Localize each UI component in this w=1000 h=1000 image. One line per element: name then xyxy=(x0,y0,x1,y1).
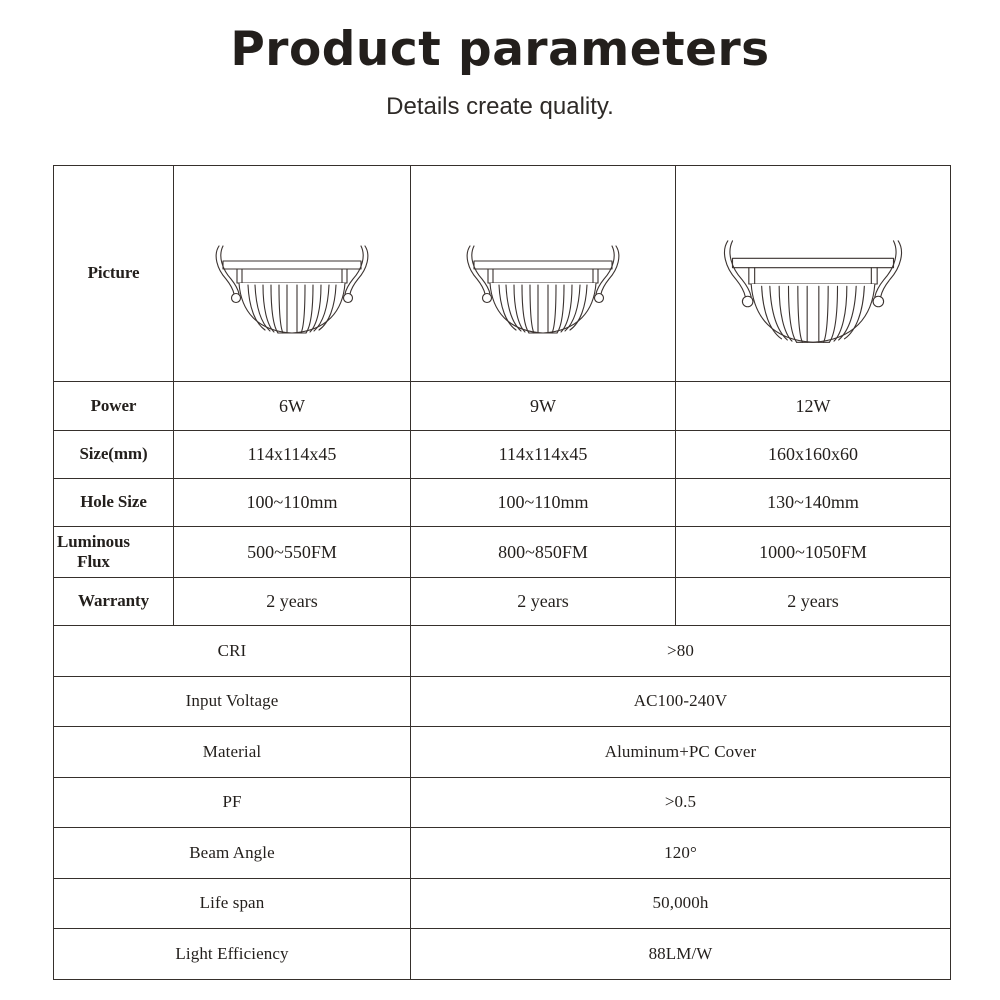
product-image-cell-6w xyxy=(174,166,411,382)
table-row-luminous-flux: Luminous Flux 500~550FM 800~850FM 1000~1… xyxy=(54,527,951,578)
row-label-cri: CRI xyxy=(54,626,411,677)
specification-table-container: Picture xyxy=(53,165,946,980)
cell-value-material: Aluminum+PC Cover xyxy=(411,727,951,778)
cell-value: 100~110mm xyxy=(174,492,410,513)
product-parameters-page: Product parameters Details create qualit… xyxy=(0,0,1000,1000)
cell-value: 500~550FM xyxy=(174,542,410,563)
row-label-luminous-flux: Luminous Flux xyxy=(54,527,174,578)
row-label-beam-angle: Beam Angle xyxy=(54,828,411,879)
row-label-light-efficiency: Light Efficiency xyxy=(54,929,411,980)
row-label-warranty: Warranty xyxy=(54,578,174,626)
cell-warranty-6w: 2 years xyxy=(174,578,411,626)
page-subtitle: Details create quality. xyxy=(0,94,1000,120)
cell-hole-6w: 100~110mm xyxy=(174,479,411,527)
specification-table: Picture xyxy=(53,165,951,980)
cell-value-light-efficiency: 88LM/W xyxy=(411,929,951,980)
table-row-beam-angle: Beam Angle 120° xyxy=(54,828,951,879)
cell-flux-6w: 500~550FM xyxy=(174,527,411,578)
cell-value: 160x160x60 xyxy=(676,444,950,465)
product-image-cell-12w xyxy=(676,166,951,382)
row-label-input-voltage: Input Voltage xyxy=(54,676,411,727)
cell-value-life-span: 50,000h xyxy=(411,878,951,929)
cell-power-9w: 9W xyxy=(411,382,676,431)
cell-value: 800~850FM xyxy=(411,542,675,563)
cell-size-6w: 114x114x45 xyxy=(174,431,411,479)
cell-value: 9W xyxy=(411,396,675,417)
cell-size-9w: 114x114x45 xyxy=(411,431,676,479)
downlight-drawing-icon xyxy=(174,166,410,381)
cell-value-beam-angle: 120° xyxy=(411,828,951,879)
row-label-picture: Picture xyxy=(54,166,174,382)
table-row-pf: PF >0.5 xyxy=(54,777,951,828)
row-label-power: Power xyxy=(54,382,174,431)
cell-value: 2 years xyxy=(174,591,410,612)
page-title: Product parameters xyxy=(0,24,1000,76)
cell-value: 100~110mm xyxy=(411,492,675,513)
cell-value: 114x114x45 xyxy=(174,444,410,465)
table-row-life-span: Life span 50,000h xyxy=(54,878,951,929)
row-label-material: Material xyxy=(54,727,411,778)
cell-value: 2 years xyxy=(676,591,950,612)
cell-value: 6W xyxy=(174,396,410,417)
cell-value: 114x114x45 xyxy=(411,444,675,465)
downlight-drawing-icon xyxy=(676,166,950,381)
row-label-size: Size(mm) xyxy=(54,431,174,479)
cell-hole-12w: 130~140mm xyxy=(676,479,951,527)
cell-value-cri: >80 xyxy=(411,626,951,677)
table-row-material: Material Aluminum+PC Cover xyxy=(54,727,951,778)
cell-value: 2 years xyxy=(411,591,675,612)
table-row-light-efficiency: Light Efficiency 88LM/W xyxy=(54,929,951,980)
table-row-input-voltage: Input Voltage AC100-240V xyxy=(54,676,951,727)
cell-power-12w: 12W xyxy=(676,382,951,431)
row-label-pf: PF xyxy=(54,777,411,828)
table-row-warranty: Warranty 2 years 2 years 2 years xyxy=(54,578,951,626)
product-image-cell-9w xyxy=(411,166,676,382)
cell-flux-12w: 1000~1050FM xyxy=(676,527,951,578)
row-label-life-span: Life span xyxy=(54,878,411,929)
cell-warranty-9w: 2 years xyxy=(411,578,676,626)
table-row-cri: CRI >80 xyxy=(54,626,951,677)
cell-flux-9w: 800~850FM xyxy=(411,527,676,578)
downlight-drawing-icon xyxy=(411,166,675,381)
table-row-hole-size: Hole Size 100~110mm 100~110mm 130~140mm xyxy=(54,479,951,527)
table-row-power: Power 6W 9W 12W xyxy=(54,382,951,431)
cell-power-6w: 6W xyxy=(174,382,411,431)
cell-value: 130~140mm xyxy=(676,492,950,513)
page-header: Product parameters Details create qualit… xyxy=(0,0,1000,120)
table-row-size: Size(mm) 114x114x45 114x114x45 160x160x6… xyxy=(54,431,951,479)
cell-value: 1000~1050FM xyxy=(676,542,950,563)
row-label-hole-size: Hole Size xyxy=(54,479,174,527)
cell-size-12w: 160x160x60 xyxy=(676,431,951,479)
cell-value-input-voltage: AC100-240V xyxy=(411,676,951,727)
cell-warranty-12w: 2 years xyxy=(676,578,951,626)
cell-value: 12W xyxy=(676,396,950,417)
table-row-picture: Picture xyxy=(54,166,951,382)
cell-hole-9w: 100~110mm xyxy=(411,479,676,527)
cell-value-pf: >0.5 xyxy=(411,777,951,828)
